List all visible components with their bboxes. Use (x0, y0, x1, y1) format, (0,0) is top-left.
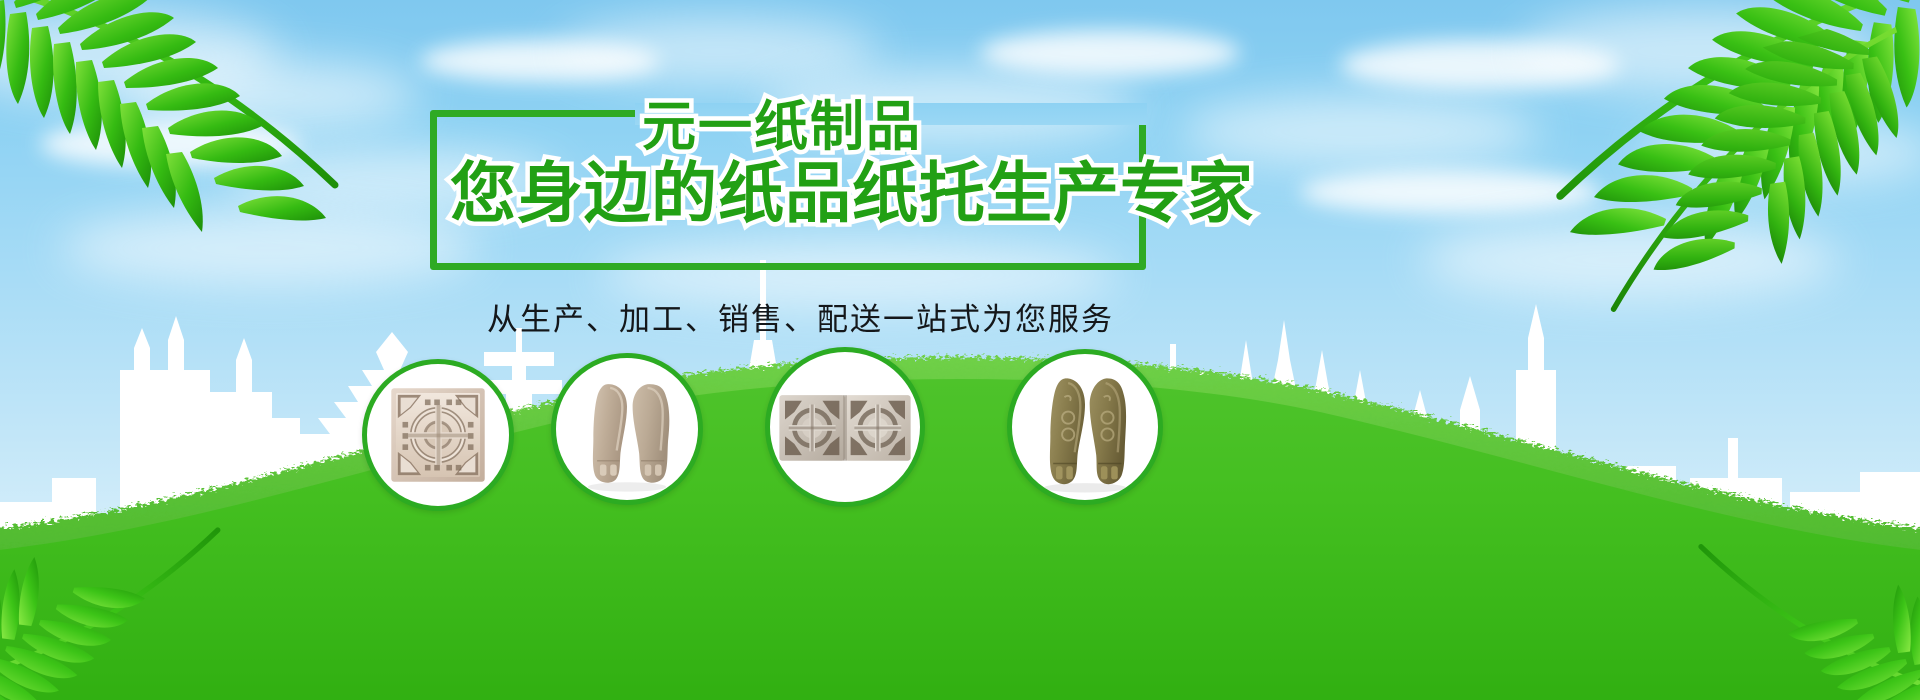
palm-frond-icon (0, 0, 390, 270)
double-pulp-tray-grey (770, 352, 920, 502)
shoe-tree-pair-olive (1012, 354, 1158, 500)
product-circle-3[interactable] (765, 347, 925, 507)
palm-frond-icon (1660, 450, 1920, 700)
subtitle: 从生产、加工、销售、配送一站式为您服务 (487, 294, 1114, 339)
page-title: 您身边的纸品纸托生产专家 (450, 140, 1254, 236)
shoe-insole-pair-beige (556, 358, 698, 500)
product-circle-2[interactable] (551, 353, 703, 505)
promo-banner: 元一纸制品 您身边的纸品纸托生产专家 从生产、加工、销售、配送一站式为您服务 (0, 0, 1920, 700)
headline-block: 元一纸制品 您身边的纸品纸托生产专家 (430, 82, 1150, 282)
product-circle-4[interactable] (1007, 349, 1163, 505)
product-circle-1[interactable] (362, 359, 514, 511)
palm-frond-icon (0, 430, 260, 700)
square-pulp-tray-beige (367, 364, 509, 506)
